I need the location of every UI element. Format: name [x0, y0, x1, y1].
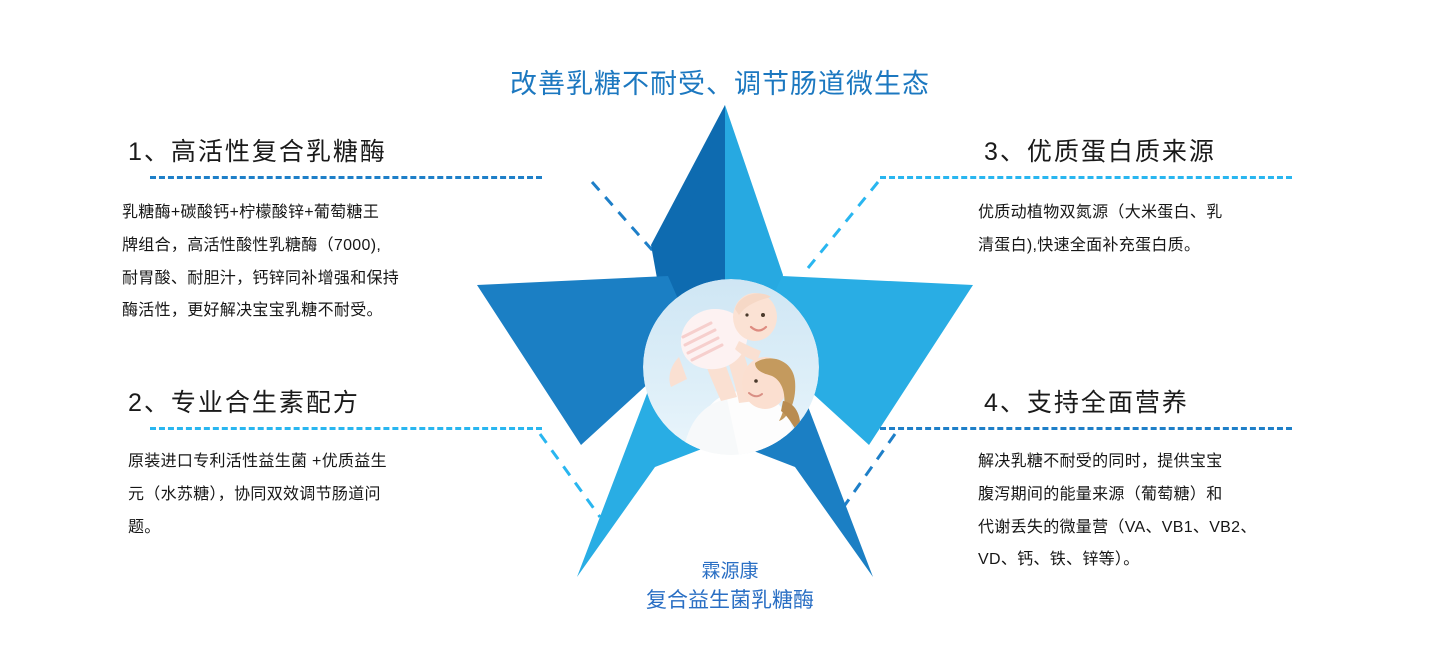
feature-2-line-1: 原装进口专利活性益生菌 +优质益生 — [128, 446, 542, 479]
product-name: 复合益生菌乳糖酶 — [560, 586, 900, 616]
feature-1-line-2: 牌组合，高活性酸性乳糖酶（7000), — [122, 230, 542, 263]
feature-block-1: 1、高活性复合乳糖酶 乳糖酶+碳酸钙+柠檬酸锌+葡萄糖王 牌组合，高活性酸性乳糖… — [122, 132, 542, 328]
feature-1-line-1: 乳糖酶+碳酸钙+柠檬酸锌+葡萄糖王 — [122, 197, 542, 230]
feature-3-body: 优质动植物双氮源（大米蛋白、乳 清蛋白),快速全面补充蛋白质。 — [978, 197, 1320, 263]
feature-4-body: 解决乳糖不耐受的同时，提供宝宝 腹泻期间的能量来源（葡萄糖）和 代谢丢失的微量营… — [978, 446, 1320, 577]
feature-4-line-3: 代谢丢失的微量营（VA、VB1、VB2、 — [978, 512, 1320, 545]
mother-baby-illustration — [643, 279, 819, 455]
feature-4-divider — [880, 427, 1292, 430]
feature-4-line-1: 解决乳糖不耐受的同时，提供宝宝 — [978, 446, 1320, 479]
feature-4-line-4: VD、钙、铁、锌等）。 — [978, 544, 1320, 577]
feature-1-divider — [150, 176, 542, 179]
poster-canvas: 改善乳糖不耐受、调节肠道微生态 — [0, 0, 1440, 660]
feature-block-3: 3、优质蛋白质来源 优质动植物双氮源（大米蛋白、乳 清蛋白),快速全面补充蛋白质… — [880, 132, 1320, 263]
feature-1-body: 乳糖酶+碳酸钙+柠檬酸锌+葡萄糖王 牌组合，高活性酸性乳糖酶（7000), 耐胃… — [122, 197, 542, 328]
feature-1-line-4: 酶活性，更好解决宝宝乳糖不耐受。 — [122, 295, 542, 328]
feature-2-body: 原装进口专利活性益生菌 +优质益生 元（水苏糖），协同双效调节肠道问 题。 — [128, 446, 542, 544]
center-photo — [643, 279, 819, 455]
feature-1-title: 1、高活性复合乳糖酶 — [128, 132, 542, 168]
feature-3-line-2: 清蛋白),快速全面补充蛋白质。 — [978, 230, 1320, 263]
feature-4-line-2: 腹泻期间的能量来源（葡萄糖）和 — [978, 479, 1320, 512]
brand-lockup: 霖源康 复合益生菌乳糖酶 — [560, 558, 900, 616]
feature-block-4: 4、支持全面营养 解决乳糖不耐受的同时，提供宝宝 腹泻期间的能量来源（葡萄糖）和… — [880, 383, 1320, 577]
feature-3-title: 3、优质蛋白质来源 — [984, 132, 1320, 168]
brand-name: 霖源康 — [560, 558, 900, 586]
feature-3-line-1: 优质动植物双氮源（大米蛋白、乳 — [978, 197, 1320, 230]
feature-3-divider — [880, 176, 1292, 179]
feature-2-title: 2、专业合生素配方 — [128, 383, 542, 419]
feature-2-line-2: 元（水苏糖），协同双效调节肠道问 — [128, 479, 542, 512]
feature-2-divider — [150, 427, 542, 430]
feature-1-line-3: 耐胃酸、耐胆汁，钙锌同补增强和保持 — [122, 263, 542, 296]
feature-4-title: 4、支持全面营养 — [984, 383, 1320, 419]
feature-2-line-3: 题。 — [128, 512, 542, 545]
feature-block-2: 2、专业合生素配方 原装进口专利活性益生菌 +优质益生 元（水苏糖），协同双效调… — [122, 383, 542, 544]
